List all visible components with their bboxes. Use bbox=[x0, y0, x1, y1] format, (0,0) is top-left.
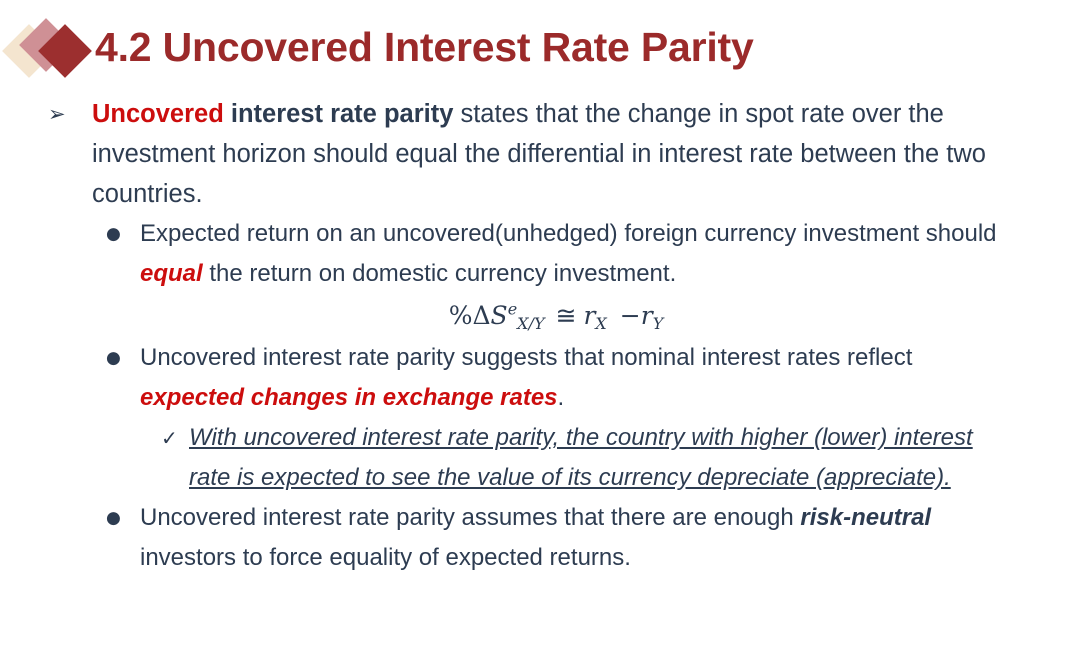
bullet-level2-expected-return: ● Expected return on an uncovered(unhedg… bbox=[0, 214, 1076, 294]
uncovered-parity-formula: %ΔSeX/Y≅rX−rY bbox=[449, 294, 664, 338]
bullet-level1-text: Uncovered interest rate parity states th… bbox=[92, 94, 1022, 214]
emphasis-risk-neutral: risk-neutral bbox=[800, 504, 931, 531]
bullet-level3-text: With uncovered interest rate parity, the… bbox=[189, 418, 1000, 498]
bullet-level2-risk-neutral: ● Uncovered interest rate parity assumes… bbox=[0, 498, 1076, 578]
check-bullet-icon: ✓ bbox=[161, 418, 178, 458]
bullet-level2-post: the return on domestic currency investme… bbox=[203, 260, 677, 287]
bullet-level2-text: Uncovered interest rate parity suggests … bbox=[140, 338, 1020, 418]
slide-body: ➢ Uncovered interest rate parity states … bbox=[0, 94, 1076, 578]
bullet-level1-definition: ➢ Uncovered interest rate parity states … bbox=[0, 94, 1076, 214]
formula-superscript-expected: e bbox=[508, 300, 517, 319]
slide-canvas: 4.2 Uncovered Interest Rate Parity ➢ Unc… bbox=[0, 0, 1076, 658]
disc-bullet-icon: ● bbox=[106, 338, 121, 378]
emphasis-uncovered: Uncovered bbox=[92, 100, 224, 128]
bullet-level2-pre: Uncovered interest rate parity suggests … bbox=[140, 344, 912, 371]
bullet-level2-pre: Expected return on an uncovered(unhedged… bbox=[140, 220, 997, 247]
formula-minus: − bbox=[620, 301, 641, 330]
emphasis-interest-rate-parity: interest rate parity bbox=[224, 100, 454, 128]
bullet-level2-pre: Uncovered interest rate parity assumes t… bbox=[140, 504, 800, 531]
bullet-level2-text: Expected return on an uncovered(unhedged… bbox=[140, 214, 1020, 294]
disc-bullet-icon: ● bbox=[106, 214, 121, 254]
bullet-level2-nominal-rates: ● Uncovered interest rate parity suggest… bbox=[0, 338, 1076, 418]
formula-r-x: r bbox=[583, 301, 595, 330]
slide-header: 4.2 Uncovered Interest Rate Parity bbox=[0, 14, 1076, 86]
formula-row: %ΔSeX/Y≅rX−rY bbox=[0, 294, 1076, 338]
arrow-bullet-icon: ➢ bbox=[48, 94, 66, 134]
formula-r-x-subscript: X bbox=[595, 314, 606, 333]
emphasis-expected-changes: expected changes in exchange rates bbox=[140, 384, 558, 411]
bullet-level2-post: . bbox=[558, 384, 565, 411]
page-title: 4.2 Uncovered Interest Rate Parity bbox=[95, 14, 754, 80]
formula-percent: % bbox=[449, 301, 473, 330]
formula-r-y: r bbox=[641, 301, 653, 330]
formula-subscript-xy: X/Y bbox=[517, 314, 544, 333]
disc-bullet-icon: ● bbox=[106, 498, 121, 538]
formula-approx-equal: ≅ bbox=[556, 301, 577, 330]
formula-delta: Δ bbox=[472, 301, 490, 330]
formula-spot-rate-symbol: S bbox=[491, 301, 508, 330]
diamond-cluster-icon bbox=[8, 20, 100, 82]
emphasis-equal: equal bbox=[140, 260, 203, 287]
bullet-level2-text: Uncovered interest rate parity assumes t… bbox=[140, 498, 1020, 578]
bullet-level3-depreciate-appreciate: ✓ With uncovered interest rate parity, t… bbox=[0, 418, 1076, 498]
formula-r-y-subscript: Y bbox=[653, 314, 664, 333]
bullet-level2-post: investors to force equality of expected … bbox=[140, 544, 631, 571]
